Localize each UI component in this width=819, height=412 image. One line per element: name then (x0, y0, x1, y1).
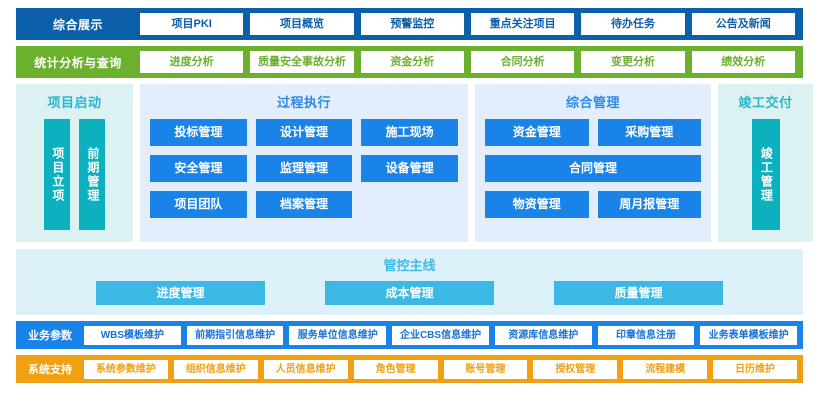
bottom-item-calendar-maintenance[interactable]: 日历维护 (713, 360, 797, 379)
nav-item-key-projects[interactable]: 重点关注项目 (471, 13, 574, 35)
tile-preliminary-management[interactable]: 前期管理 (79, 119, 105, 230)
tile-equipment-management[interactable]: 设备管理 (361, 155, 458, 182)
tile-funds-management[interactable]: 资金管理 (485, 119, 589, 146)
nav-item-early-warning-monitoring[interactable]: 预警监控 (361, 13, 464, 35)
mainline-title: 管控主线 (26, 255, 793, 274)
bottom-item-system-parameter-maintenance[interactable]: 系统参数维护 (84, 360, 168, 379)
project-management-platform-diagram: 综合展示 项目PKI 项目概览 预警监控 重点关注项目 待办任务 公告及新闻 统… (0, 0, 819, 412)
tile-project-initiation[interactable]: 项目立项 (44, 119, 70, 230)
nav-bar-title-statistical-analysis: 统计分析与查询 (16, 54, 140, 71)
nav-item-performance-analysis[interactable]: 绩效分析 (692, 51, 795, 73)
bottom-bar-business-parameters: 业务参数 WBS模板维护 前期指引信息维护 服务单位信息维护 企业CBS信息维护… (16, 321, 803, 349)
nav-bar-statistical-analysis: 统计分析与查询 进度分析 质量安全事故分析 资金分析 合同分析 变更分析 绩效分… (16, 46, 803, 78)
process-execution-row-3: 项目团队 档案管理 (150, 191, 458, 218)
bottom-item-resource-library-info-maintenance[interactable]: 资源库信息维护 (495, 326, 592, 345)
nav-item-contract-analysis[interactable]: 合同分析 (471, 51, 574, 73)
nav-item-announcements-news[interactable]: 公告及新闻 (692, 13, 795, 35)
comprehensive-management-row-3: 物资管理 周月报管理 (485, 191, 701, 218)
bottom-item-wbs-template-maintenance[interactable]: WBS模板维护 (84, 326, 181, 345)
bottom-item-process-modeling[interactable]: 流程建模 (623, 360, 707, 379)
tile-completion-management[interactable]: 竣工管理 (752, 119, 780, 230)
nav-bar-title-comprehensive-display: 综合展示 (16, 16, 140, 33)
nav-item-project-overview[interactable]: 项目概览 (250, 13, 353, 35)
bottom-bar-title-system-support: 系统支持 (16, 361, 84, 377)
process-execution-row-1: 投标管理 设计管理 施工现场 (150, 119, 458, 146)
lifecycle-stage-row: 项目启动 项目立项 前期管理 过程执行 投标管理 设计管理 施工现场 安全管理 … (16, 84, 803, 242)
process-execution-tiles: 投标管理 设计管理 施工现场 安全管理 监理管理 设备管理 项目团队 档案管理 (150, 119, 458, 232)
nav-items-comprehensive-display: 项目PKI 项目概览 预警监控 重点关注项目 待办任务 公告及新闻 (140, 13, 795, 35)
mainline-tiles: 进度管理 成本管理 质量管理 (26, 281, 793, 305)
comprehensive-management-row-1: 资金管理 采购管理 (485, 119, 701, 146)
bottom-item-service-unit-info-maintenance[interactable]: 服务单位信息维护 (289, 326, 386, 345)
tile-contract-management[interactable]: 合同管理 (485, 155, 701, 182)
bottom-item-account-management[interactable]: 账号管理 (444, 360, 528, 379)
process-execution-row-2: 安全管理 监理管理 设备管理 (150, 155, 458, 182)
bottom-item-preliminary-guidance-info-maintenance[interactable]: 前期指引信息维护 (187, 326, 284, 345)
panel-title-completion-delivery: 竣工交付 (728, 92, 803, 111)
tile-materials-management[interactable]: 物资管理 (485, 191, 589, 218)
panel-completion-delivery: 竣工交付 竣工管理 (718, 84, 813, 242)
nav-item-quality-safety-accident-analysis[interactable]: 质量安全事故分析 (250, 51, 353, 73)
panel-title-comprehensive-management: 综合管理 (485, 92, 701, 111)
bottom-bar-title-business-parameters: 业务参数 (16, 327, 84, 343)
tile-project-team[interactable]: 项目团队 (150, 191, 247, 218)
panel-comprehensive-management: 综合管理 资金管理 采购管理 合同管理 物资管理 周月报管理 (475, 84, 711, 242)
panel-title-project-start: 项目启动 (26, 92, 123, 111)
nav-item-project-pki[interactable]: 项目PKI (140, 13, 243, 35)
tile-supervision-management[interactable]: 监理管理 (256, 155, 353, 182)
panel-process-execution: 过程执行 投标管理 设计管理 施工现场 安全管理 监理管理 设备管理 项目团队 … (140, 84, 468, 242)
bottom-items-system-support: 系统参数维护 组织信息维护 人员信息维护 角色管理 账号管理 授权管理 流程建模… (84, 360, 797, 379)
tile-design-management[interactable]: 设计管理 (256, 119, 353, 146)
mainline-control-band: 管控主线 进度管理 成本管理 质量管理 (16, 249, 803, 315)
tile-archive-management[interactable]: 档案管理 (256, 191, 353, 218)
nav-item-pending-tasks[interactable]: 待办任务 (581, 13, 684, 35)
nav-item-change-analysis[interactable]: 变更分析 (581, 51, 684, 73)
panel-project-start: 项目启动 项目立项 前期管理 (16, 84, 133, 242)
bottom-item-organization-info-maintenance[interactable]: 组织信息维护 (174, 360, 258, 379)
bottom-bar-system-support: 系统支持 系统参数维护 组织信息维护 人员信息维护 角色管理 账号管理 授权管理… (16, 355, 803, 383)
process-execution-row-3-spacer (361, 191, 458, 218)
bottom-item-personnel-info-maintenance[interactable]: 人员信息维护 (264, 360, 348, 379)
comprehensive-management-row-2: 合同管理 (485, 155, 701, 182)
comprehensive-management-tiles: 资金管理 采购管理 合同管理 物资管理 周月报管理 (485, 119, 701, 232)
nav-items-statistical-analysis: 进度分析 质量安全事故分析 资金分析 合同分析 变更分析 绩效分析 (140, 51, 795, 73)
bottom-item-business-form-template-maintenance[interactable]: 业务表单模板维护 (700, 326, 797, 345)
bottom-item-authorization-management[interactable]: 授权管理 (533, 360, 617, 379)
tile-bidding-management[interactable]: 投标管理 (150, 119, 247, 146)
tile-construction-site[interactable]: 施工现场 (361, 119, 458, 146)
bottom-item-seal-info-registration[interactable]: 印章信息注册 (598, 326, 695, 345)
tile-progress-management[interactable]: 进度管理 (96, 281, 265, 305)
bottom-item-enterprise-cbs-info-maintenance[interactable]: 企业CBS信息维护 (392, 326, 489, 345)
bottom-items-business-parameters: WBS模板维护 前期指引信息维护 服务单位信息维护 企业CBS信息维护 资源库信… (84, 326, 797, 345)
tile-safety-management[interactable]: 安全管理 (150, 155, 247, 182)
panel-title-process-execution: 过程执行 (150, 92, 458, 111)
project-start-tiles: 项目立项 前期管理 (26, 119, 123, 232)
tile-weekly-monthly-report-management[interactable]: 周月报管理 (598, 191, 702, 218)
nav-item-funds-analysis[interactable]: 资金分析 (361, 51, 464, 73)
nav-item-progress-analysis[interactable]: 进度分析 (140, 51, 243, 73)
tile-quality-management[interactable]: 质量管理 (554, 281, 723, 305)
completion-delivery-tiles: 竣工管理 (728, 119, 803, 232)
nav-bar-comprehensive-display: 综合展示 项目PKI 项目概览 预警监控 重点关注项目 待办任务 公告及新闻 (16, 8, 803, 40)
tile-procurement-management[interactable]: 采购管理 (598, 119, 702, 146)
bottom-item-role-management[interactable]: 角色管理 (354, 360, 438, 379)
tile-cost-management[interactable]: 成本管理 (325, 281, 494, 305)
